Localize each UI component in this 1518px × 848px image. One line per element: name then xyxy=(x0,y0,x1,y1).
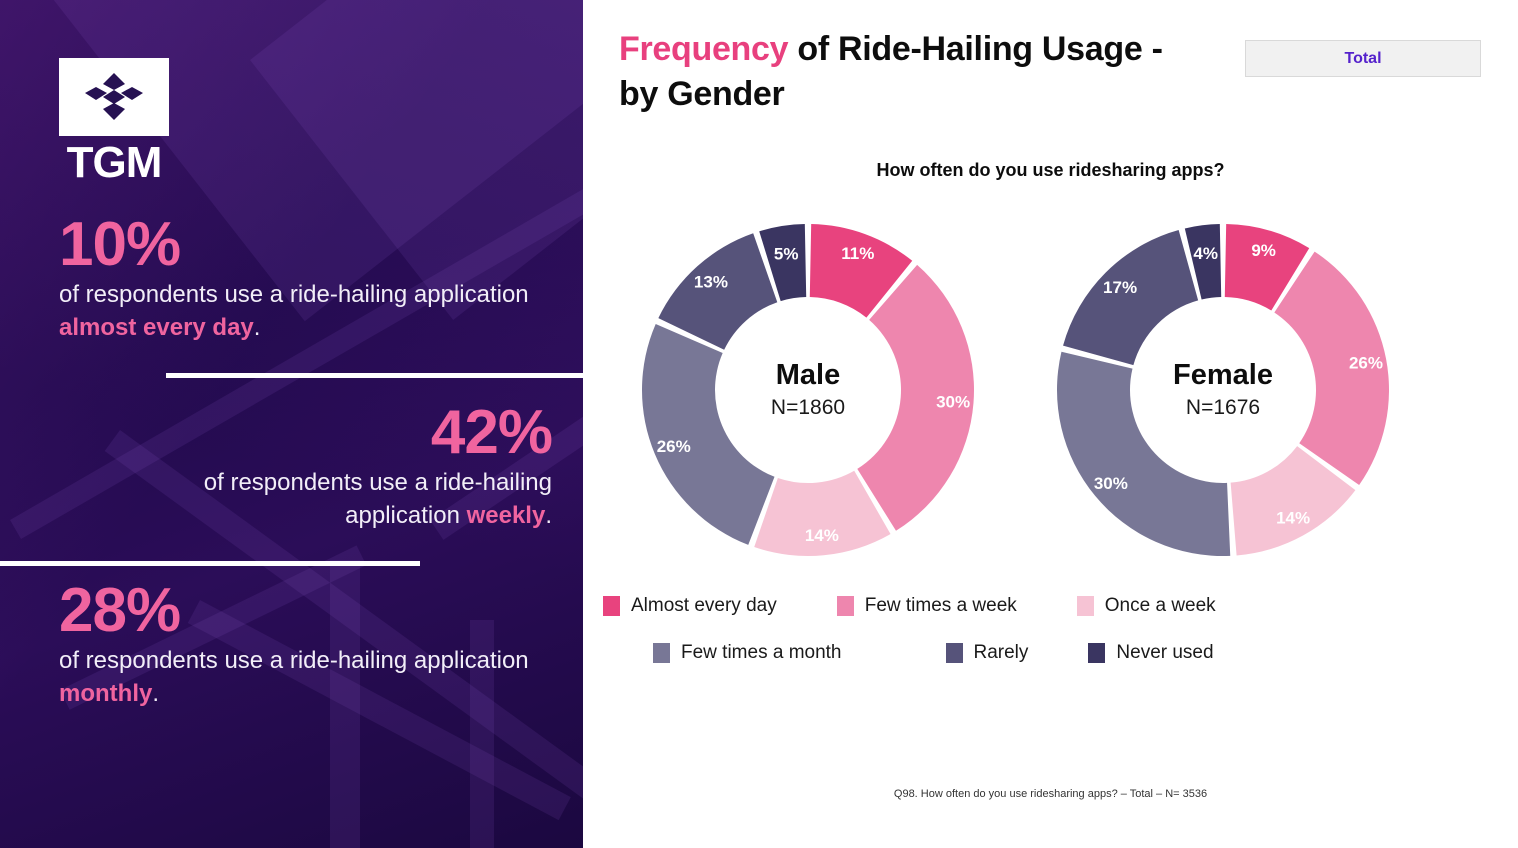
legend-item-never-used[interactable]: Never used xyxy=(1088,642,1213,664)
legend-item-few-times-a-week[interactable]: Few times a week xyxy=(837,595,1017,617)
stat-value: 28% xyxy=(59,578,529,644)
charts-container: 11%30%14%26%13%5% Male N=1860 9%26%14%30… xyxy=(583,205,1518,580)
stat-block-almost-every-day: 10% of respondents use a ride-hailing ap… xyxy=(59,212,529,344)
legend-label: Never used xyxy=(1116,642,1213,664)
donut-segment-label: 14% xyxy=(1276,509,1310,528)
donut-segment[interactable] xyxy=(642,324,775,545)
donut-segment-label: 14% xyxy=(805,526,839,545)
chart-legend: Almost every day Few times a week Once a… xyxy=(583,595,1518,664)
chart-footnote: Q98. How often do you use ridesharing ap… xyxy=(583,788,1518,800)
donut-chart-male: 11%30%14%26%13%5% Male N=1860 xyxy=(623,205,993,575)
donut-segment-label: 26% xyxy=(657,437,691,456)
stat-value: 10% xyxy=(59,212,529,278)
main-content: Frequency of Ride-Hailing Usage - by Gen… xyxy=(583,0,1518,848)
stat-text-before: of respondents use a ride-hailing applic… xyxy=(59,647,529,674)
legend-row-2: Few times a month Rarely Never used xyxy=(583,642,1518,664)
chart-subtitle: How often do you use ridesharing apps? xyxy=(583,160,1518,181)
legend-label: Few times a week xyxy=(865,595,1017,617)
legend-label: Few times a month xyxy=(681,642,842,664)
stat-text-after: . xyxy=(545,502,552,529)
donut-svg-female: 9%26%14%30%17%4% xyxy=(1038,205,1408,575)
donut-segment-label: 4% xyxy=(1193,244,1218,263)
stat-text: of respondents use a ride-hailing applic… xyxy=(59,644,529,710)
logo-emblem-box xyxy=(59,58,169,136)
legend-swatch-icon xyxy=(603,596,620,616)
legend-swatch-icon xyxy=(1088,643,1105,663)
legend-label: Almost every day xyxy=(631,595,777,617)
sidebar-panel: TGM 10% of respondents use a ride-hailin… xyxy=(0,0,583,848)
divider-line-1 xyxy=(166,373,583,378)
donut-segment-label: 9% xyxy=(1251,241,1276,260)
page-title-highlight: Frequency xyxy=(619,30,788,68)
donut-segment-label: 26% xyxy=(1349,354,1383,373)
stat-text-bold: almost every day xyxy=(59,314,254,341)
slide-root: TGM 10% of respondents use a ride-hailin… xyxy=(0,0,1518,848)
donut-segment[interactable] xyxy=(1057,352,1230,556)
stat-text-bold: weekly xyxy=(467,502,546,529)
logo-wordmark: TGM xyxy=(67,140,162,186)
legend-swatch-icon xyxy=(946,643,963,663)
diamond-emblem-icon xyxy=(75,70,153,124)
legend-swatch-icon xyxy=(1077,596,1094,616)
logo-wordmark-box: TGM xyxy=(59,139,169,187)
legend-label: Rarely xyxy=(974,642,1029,664)
stat-text-after: . xyxy=(152,680,159,707)
page-title: Frequency of Ride-Hailing Usage - by Gen… xyxy=(619,27,1179,117)
total-button-label: Total xyxy=(1344,50,1381,68)
legend-label: Once a week xyxy=(1105,595,1216,617)
stat-block-weekly: 42% of respondents use a ride-hailing ap… xyxy=(100,400,552,532)
legend-item-once-a-week[interactable]: Once a week xyxy=(1077,595,1216,617)
stat-text-after: . xyxy=(254,314,261,341)
legend-item-few-times-a-month[interactable]: Few times a month xyxy=(653,642,842,664)
legend-swatch-icon xyxy=(837,596,854,616)
donut-segment[interactable] xyxy=(1063,230,1198,365)
stat-text: of respondents use a ride-hailing applic… xyxy=(100,466,552,532)
donut-segment-label: 11% xyxy=(841,244,874,263)
legend-item-almost-every-day[interactable]: Almost every day xyxy=(603,595,777,617)
total-button[interactable]: Total xyxy=(1245,40,1481,77)
donut-segment-label: 17% xyxy=(1103,278,1137,297)
stat-text-bold: monthly xyxy=(59,680,152,707)
divider-line-2 xyxy=(0,561,420,566)
donut-segment-label: 5% xyxy=(774,244,799,263)
legend-row-1: Almost every day Few times a week Once a… xyxy=(583,595,1518,617)
donut-segments-male xyxy=(642,224,974,556)
donut-segment-label: 13% xyxy=(694,273,728,292)
donut-segments-female xyxy=(1057,224,1389,556)
stat-text: of respondents use a ride-hailing applic… xyxy=(59,278,529,344)
donut-svg-male: 11%30%14%26%13%5% xyxy=(623,205,993,575)
stat-value: 42% xyxy=(100,400,552,466)
stat-text-before: of respondents use a ride-hailing applic… xyxy=(59,281,529,308)
donut-chart-female: 9%26%14%30%17%4% Female N=1676 xyxy=(1038,205,1408,575)
legend-item-rarely[interactable]: Rarely xyxy=(946,642,1029,664)
donut-segment-label: 30% xyxy=(1094,474,1128,493)
tgm-logo: TGM xyxy=(59,58,169,184)
donut-segment-label: 30% xyxy=(936,393,970,412)
stat-block-monthly: 28% of respondents use a ride-hailing ap… xyxy=(59,578,529,710)
legend-swatch-icon xyxy=(653,643,670,663)
